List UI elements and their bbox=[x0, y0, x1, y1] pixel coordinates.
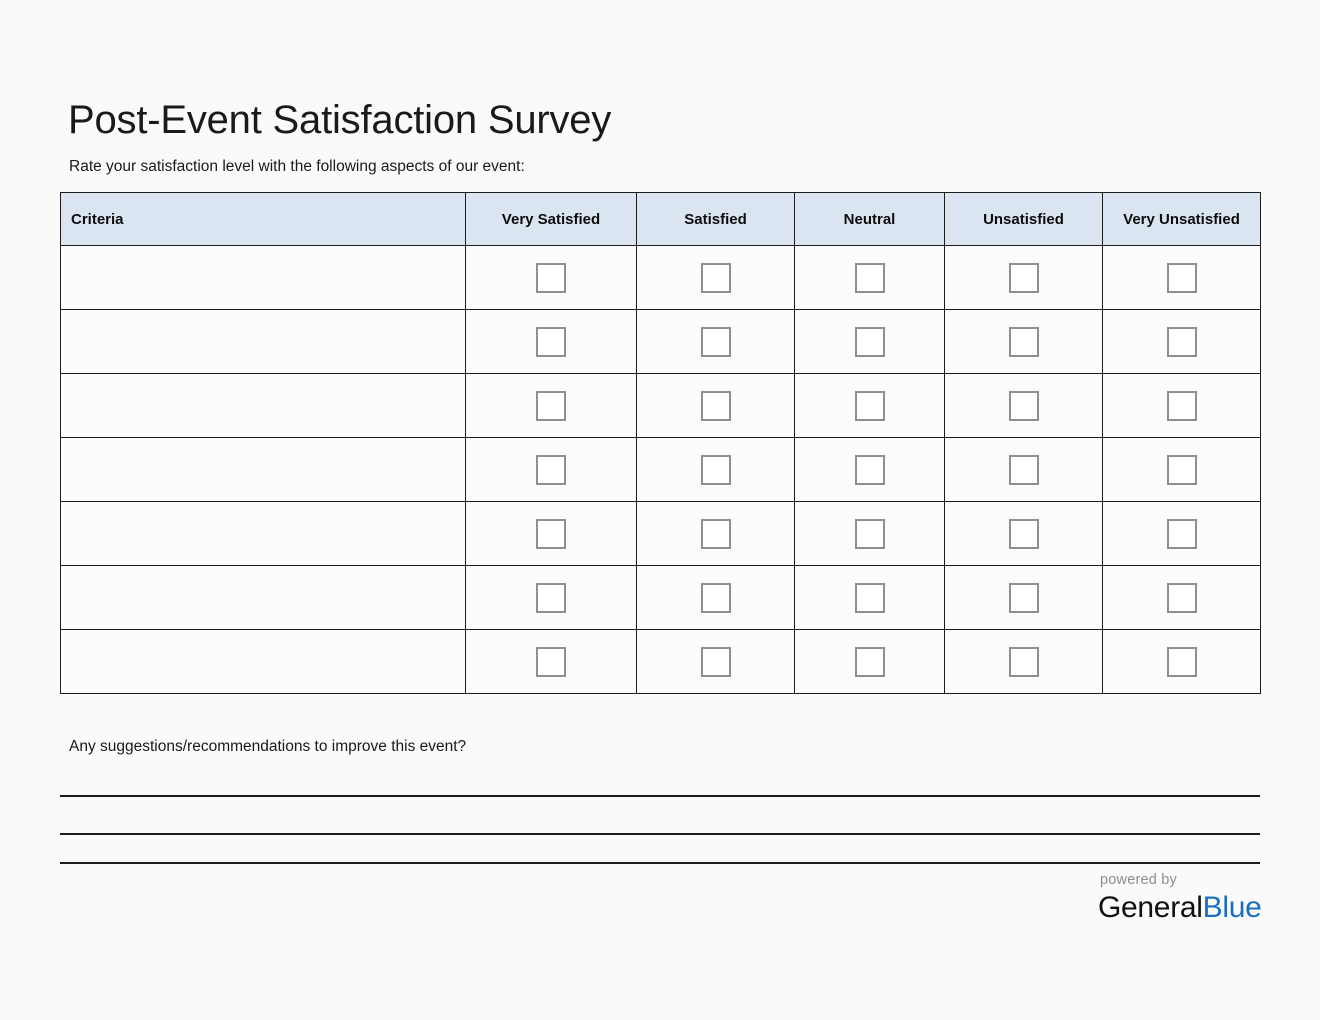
table-body bbox=[61, 246, 1261, 694]
rating-cell-satisfied[interactable] bbox=[637, 246, 795, 310]
checkbox-very-unsatisfied[interactable] bbox=[1167, 519, 1197, 549]
rating-cell-unsatisfied[interactable] bbox=[945, 310, 1103, 374]
table-row bbox=[61, 374, 1261, 438]
checkbox-satisfied[interactable] bbox=[701, 583, 731, 613]
rating-cell-very-unsatisfied[interactable] bbox=[1103, 374, 1261, 438]
checkbox-satisfied[interactable] bbox=[701, 327, 731, 357]
checkbox-very-satisfied[interactable] bbox=[536, 583, 566, 613]
rating-cell-neutral[interactable] bbox=[795, 310, 945, 374]
checkbox-neutral[interactable] bbox=[855, 263, 885, 293]
column-header-very-satisfied: Very Satisfied bbox=[466, 193, 637, 246]
checkbox-neutral[interactable] bbox=[855, 391, 885, 421]
rating-cell-neutral[interactable] bbox=[795, 438, 945, 502]
rating-cell-satisfied[interactable] bbox=[637, 310, 795, 374]
rating-cell-unsatisfied[interactable] bbox=[945, 502, 1103, 566]
rating-cell-unsatisfied[interactable] bbox=[945, 566, 1103, 630]
checkbox-unsatisfied[interactable] bbox=[1009, 647, 1039, 677]
brand-name-primary: General bbox=[1098, 891, 1203, 924]
checkbox-unsatisfied[interactable] bbox=[1009, 519, 1039, 549]
checkbox-satisfied[interactable] bbox=[701, 647, 731, 677]
checkbox-neutral[interactable] bbox=[855, 519, 885, 549]
checkbox-very-satisfied[interactable] bbox=[536, 263, 566, 293]
checkbox-very-unsatisfied[interactable] bbox=[1167, 455, 1197, 485]
checkbox-unsatisfied[interactable] bbox=[1009, 583, 1039, 613]
checkbox-very-satisfied[interactable] bbox=[536, 647, 566, 677]
rating-cell-satisfied[interactable] bbox=[637, 566, 795, 630]
table-header: Criteria Very Satisfied Satisfied Neutra… bbox=[61, 193, 1261, 246]
checkbox-satisfied[interactable] bbox=[701, 455, 731, 485]
checkbox-unsatisfied[interactable] bbox=[1009, 391, 1039, 421]
rating-cell-satisfied[interactable] bbox=[637, 374, 795, 438]
column-header-unsatisfied: Unsatisfied bbox=[945, 193, 1103, 246]
table-row bbox=[61, 566, 1261, 630]
rating-cell-very-satisfied[interactable] bbox=[466, 502, 637, 566]
checkbox-neutral[interactable] bbox=[855, 327, 885, 357]
checkbox-neutral[interactable] bbox=[855, 455, 885, 485]
rating-cell-satisfied[interactable] bbox=[637, 630, 795, 694]
rating-cell-very-unsatisfied[interactable] bbox=[1103, 566, 1261, 630]
column-header-satisfied: Satisfied bbox=[637, 193, 795, 246]
checkbox-unsatisfied[interactable] bbox=[1009, 455, 1039, 485]
footer-branding: powered by GeneralBlue bbox=[1098, 872, 1268, 927]
rating-cell-neutral[interactable] bbox=[795, 246, 945, 310]
rating-cell-very-unsatisfied[interactable] bbox=[1103, 246, 1261, 310]
rating-cell-neutral[interactable] bbox=[795, 566, 945, 630]
checkbox-very-satisfied[interactable] bbox=[536, 327, 566, 357]
satisfaction-table: Criteria Very Satisfied Satisfied Neutra… bbox=[60, 192, 1261, 694]
criteria-input-cell[interactable] bbox=[61, 566, 466, 630]
rating-cell-satisfied[interactable] bbox=[637, 438, 795, 502]
checkbox-very-unsatisfied[interactable] bbox=[1167, 647, 1197, 677]
suggestions-write-line-1[interactable] bbox=[60, 795, 1260, 797]
criteria-input-cell[interactable] bbox=[61, 374, 466, 438]
rating-cell-unsatisfied[interactable] bbox=[945, 630, 1103, 694]
criteria-input-cell[interactable] bbox=[61, 246, 466, 310]
rating-cell-very-satisfied[interactable] bbox=[466, 246, 637, 310]
suggestions-label: Any suggestions/recommendations to impro… bbox=[69, 738, 466, 756]
rating-cell-very-unsatisfied[interactable] bbox=[1103, 630, 1261, 694]
rating-cell-very-satisfied[interactable] bbox=[466, 438, 637, 502]
checkbox-very-satisfied[interactable] bbox=[536, 519, 566, 549]
table-header-row: Criteria Very Satisfied Satisfied Neutra… bbox=[61, 193, 1261, 246]
checkbox-very-unsatisfied[interactable] bbox=[1167, 583, 1197, 613]
table-row bbox=[61, 502, 1261, 566]
instruction-text: Rate your satisfaction level with the fo… bbox=[69, 158, 525, 176]
table-row bbox=[61, 438, 1261, 502]
rating-cell-very-unsatisfied[interactable] bbox=[1103, 438, 1261, 502]
checkbox-very-unsatisfied[interactable] bbox=[1167, 263, 1197, 293]
checkbox-satisfied[interactable] bbox=[701, 263, 731, 293]
rating-cell-neutral[interactable] bbox=[795, 630, 945, 694]
rating-cell-neutral[interactable] bbox=[795, 374, 945, 438]
rating-cell-satisfied[interactable] bbox=[637, 502, 795, 566]
rating-cell-unsatisfied[interactable] bbox=[945, 246, 1103, 310]
table-row bbox=[61, 630, 1261, 694]
checkbox-satisfied[interactable] bbox=[701, 391, 731, 421]
checkbox-neutral[interactable] bbox=[855, 647, 885, 677]
checkbox-very-unsatisfied[interactable] bbox=[1167, 327, 1197, 357]
suggestions-write-line-2[interactable] bbox=[60, 833, 1260, 835]
rating-cell-very-satisfied[interactable] bbox=[466, 630, 637, 694]
criteria-input-cell[interactable] bbox=[61, 438, 466, 502]
column-header-criteria: Criteria bbox=[61, 193, 466, 246]
checkbox-very-unsatisfied[interactable] bbox=[1167, 391, 1197, 421]
suggestions-write-line-3[interactable] bbox=[60, 862, 1260, 864]
rating-cell-very-unsatisfied[interactable] bbox=[1103, 502, 1261, 566]
checkbox-very-satisfied[interactable] bbox=[536, 455, 566, 485]
checkbox-unsatisfied[interactable] bbox=[1009, 263, 1039, 293]
table-row bbox=[61, 246, 1261, 310]
brand-name-accent: Blue bbox=[1203, 891, 1262, 924]
criteria-input-cell[interactable] bbox=[61, 502, 466, 566]
rating-cell-very-unsatisfied[interactable] bbox=[1103, 310, 1261, 374]
column-header-very-unsatisfied: Very Unsatisfied bbox=[1103, 193, 1261, 246]
rating-cell-unsatisfied[interactable] bbox=[945, 438, 1103, 502]
checkbox-very-satisfied[interactable] bbox=[536, 391, 566, 421]
generalblue-logo: GeneralBlue bbox=[1098, 889, 1268, 927]
criteria-input-cell[interactable] bbox=[61, 630, 466, 694]
checkbox-neutral[interactable] bbox=[855, 583, 885, 613]
page-title: Post-Event Satisfaction Survey bbox=[68, 97, 611, 143]
survey-page: Post-Event Satisfaction Survey Rate your… bbox=[0, 0, 1320, 1020]
criteria-input-cell[interactable] bbox=[61, 310, 466, 374]
checkbox-unsatisfied[interactable] bbox=[1009, 327, 1039, 357]
rating-cell-very-satisfied[interactable] bbox=[466, 566, 637, 630]
powered-by-label: powered by bbox=[1098, 872, 1268, 889]
column-header-neutral: Neutral bbox=[795, 193, 945, 246]
rating-cell-very-satisfied[interactable] bbox=[466, 310, 637, 374]
rating-cell-unsatisfied[interactable] bbox=[945, 374, 1103, 438]
checkbox-satisfied[interactable] bbox=[701, 519, 731, 549]
table-row bbox=[61, 310, 1261, 374]
rating-cell-neutral[interactable] bbox=[795, 502, 945, 566]
rating-cell-very-satisfied[interactable] bbox=[466, 374, 637, 438]
